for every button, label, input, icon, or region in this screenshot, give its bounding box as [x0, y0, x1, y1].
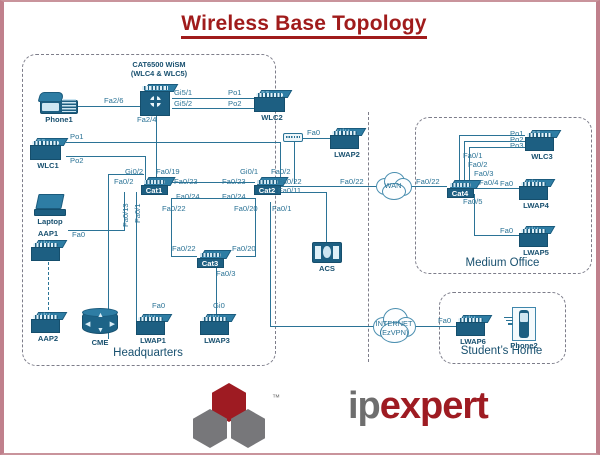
- port-label-fa2-4: Fa2/4: [137, 116, 156, 124]
- port-label-fa0-1-cat1: Fa0/1: [134, 204, 142, 223]
- device-phone1[interactable]: [40, 92, 78, 114]
- link-phone1-cat6500: [78, 106, 144, 107]
- device-lwap6[interactable]: ıı|ıı: [456, 315, 490, 336]
- device-wlc2[interactable]: ≡≡: [254, 90, 290, 112]
- device-wlc1-label: WLC1: [20, 162, 76, 170]
- device-cme[interactable]: ◀ ▶ ▲ ▼: [82, 308, 118, 336]
- port-label-fa0-lwap6: Fa0: [438, 317, 451, 325]
- device-cat1-label: Cat1: [138, 187, 170, 195]
- port-label-fa0-13-cat1: Fa0/13: [122, 203, 130, 227]
- port-label-gi0-1-cat2: Gi0/1: [240, 168, 258, 176]
- device-cat6500-caption-1: CAT6500 WiSM: [104, 60, 214, 69]
- device-lwap2-label: LWAP2: [320, 151, 374, 159]
- port-label-fa0-20-cat2: Fa0/20: [234, 205, 258, 213]
- logo-tm: ™: [272, 393, 280, 402]
- port-label-fa0-11-cat2: Fa0/11: [278, 187, 301, 195]
- port-label-fa0-23-cat1: Fa0/23: [174, 178, 198, 186]
- device-aap1[interactable]: ıı|ıı: [31, 240, 65, 261]
- zone-headquarters-label: Headquarters: [22, 347, 274, 359]
- logo-wordmark: ipexpert: [348, 387, 488, 425]
- device-cme-label: CME: [74, 339, 126, 347]
- device-wlc3[interactable]: ≡≡: [525, 130, 559, 151]
- port-label-fa0-2-cat2: Fa0/2: [271, 168, 290, 176]
- port-label-fa0-24-cat2: Fa0/24: [222, 193, 246, 201]
- link-cat4-lwap5-h: [474, 235, 519, 236]
- topology-diagram-page: Wireless Base Topology Headquarters Medi…: [0, 0, 600, 455]
- link-cat2-internet-h: [270, 326, 375, 327]
- port-label-fa0-1-cat4: Fa0/1: [463, 152, 482, 160]
- port-label-gi5-1: Gi5/1: [174, 89, 192, 97]
- port-label-po2-wlc2: Po2: [228, 100, 242, 108]
- zone-medium-office-label: Medium Office: [415, 257, 590, 269]
- link-injector-lwap2: [300, 138, 330, 139]
- device-wlc2-label: WLC2: [244, 114, 300, 122]
- device-lwap6-label: LWAP6: [446, 338, 500, 346]
- port-label-gi0-lwap3: Gi0: [213, 302, 225, 310]
- device-acs-label: ACS: [302, 265, 352, 273]
- device-phone2-label: Phone2: [502, 342, 546, 350]
- device-phone1-label: Phone1: [30, 116, 88, 124]
- device-laptop[interactable]: [34, 194, 66, 216]
- brand-logo: ™ ipexpert: [4, 381, 600, 447]
- logo-word-expert: expert: [380, 385, 488, 427]
- page-title: Wireless Base Topology: [4, 12, 600, 36]
- link-internet-lwap6: [412, 326, 456, 327]
- port-label-fa0-3-cat4: Fa0/3: [474, 170, 493, 178]
- link-cat1-cat3-h: [171, 256, 197, 257]
- logo-word-ip: ip: [348, 385, 380, 427]
- device-aap2-label: AAP2: [21, 335, 75, 343]
- link-wlc1-po1-h: [66, 142, 281, 143]
- port-label-fa0-22-cat4: Fa0/22: [416, 178, 440, 186]
- device-cat6500-caption-2: (WLC4 & WLC5): [104, 69, 214, 78]
- port-label-fa0-22-cat1: Fa0/22: [162, 205, 186, 213]
- link-cat6500-wlc2-po2: [172, 108, 254, 109]
- port-label-fa0-22-cat2: Fa0/22: [278, 178, 302, 186]
- port-label-fa2-6: Fa2/6: [104, 97, 123, 105]
- device-lwap5[interactable]: ıı|ıı: [519, 226, 553, 247]
- device-aap2[interactable]: ıı|ıı: [31, 312, 65, 333]
- page-title-text: Wireless Base Topology: [181, 12, 426, 39]
- port-label-po1-wlc1: Po1: [70, 133, 84, 141]
- cloud-wan-label: WAN: [374, 181, 412, 190]
- device-wlc1[interactable]: ≡≡: [30, 138, 66, 160]
- link-cat2-internet-v: [270, 202, 271, 326]
- link-cat4-wlc3-po1-v: [459, 135, 460, 183]
- link-cat2-cat3-h: [236, 256, 256, 257]
- port-label-fa0-5-cat4: Fa0/5: [463, 198, 482, 206]
- port-label-fa0-2-cat4: Fa0/2: [468, 161, 487, 169]
- device-lwap5-label: LWAP5: [509, 249, 563, 257]
- device-aap1-label: AAP1: [22, 230, 74, 238]
- port-label-fa0-lwap1: Fa0: [152, 302, 165, 310]
- port-label-fa0-24-cat1: Fa0/24: [176, 193, 200, 201]
- port-label-gi5-2: Gi5/2: [174, 100, 192, 108]
- device-cat6500[interactable]: [140, 84, 176, 116]
- port-label-fa0-20-cat3: Fa0/20: [232, 245, 256, 253]
- port-label-fa0-22-cat3: Fa0/22: [172, 245, 196, 253]
- device-lwap2[interactable]: ıı|ıı: [330, 128, 364, 149]
- port-label-fa0-lwap4: Fa0: [500, 180, 513, 188]
- port-label-fa0-3-cat3: Fa0/3: [216, 270, 235, 278]
- port-label-po3-wlc3: Po3: [510, 142, 524, 150]
- device-acs[interactable]: [312, 242, 342, 263]
- cloud-internet: INTERNET (EzVPN): [372, 305, 416, 347]
- device-phone2[interactable]: [512, 307, 536, 341]
- link-cat4-wlc3-po2-v: [464, 141, 465, 183]
- device-lwap4[interactable]: ıı|ıı: [519, 179, 553, 200]
- link-wan-cat4: [410, 186, 447, 187]
- device-lwap3[interactable]: ıı|ıı: [200, 314, 234, 335]
- link-cat4-lwap4: [474, 188, 519, 189]
- device-cat3-label: Cat3: [194, 260, 226, 268]
- port-label-fa0-lwap5: Fa0: [500, 227, 513, 235]
- port-label-fa0-1-cat2: Fa0/1: [272, 205, 291, 213]
- port-label-fa0-4-cat4: Fa0/4: [479, 179, 498, 187]
- cloud-wan: WAN: [374, 170, 412, 202]
- device-wlc3-label: WLC3: [515, 153, 569, 161]
- port-label-fa0-aap1: Fa0: [72, 231, 85, 239]
- port-label-fa0-22-wan-left: Fa0/22: [340, 178, 364, 186]
- power-injector: [283, 133, 303, 142]
- device-lwap4-label: LWAP4: [509, 202, 563, 210]
- cloud-internet-label-2: (EzVPN): [372, 328, 416, 337]
- port-label-po2-wlc1: Po2: [70, 157, 84, 165]
- port-label-fa0-23-cat2: Fa0/23: [222, 178, 246, 186]
- port-label-fa0-19-cat1: Fa0/19: [156, 168, 180, 176]
- port-label-fa0-2-cat1: Fa0/2: [114, 178, 133, 186]
- port-label-po1-wlc2: Po1: [228, 89, 242, 97]
- device-laptop-label: Laptop: [24, 218, 76, 226]
- device-lwap3-label: LWAP3: [190, 337, 244, 345]
- port-label-gi0-2-cat1: Gi0/2: [125, 168, 143, 176]
- port-label-fa0-lwap2: Fa0: [307, 129, 320, 137]
- device-lwap1[interactable]: ıı|ıı: [136, 314, 170, 335]
- cloud-internet-label-1: INTERNET: [372, 319, 416, 328]
- link-cat2-acs-v: [326, 192, 327, 242]
- site-separator: [368, 112, 369, 362]
- device-lwap1-label: LWAP1: [126, 337, 180, 345]
